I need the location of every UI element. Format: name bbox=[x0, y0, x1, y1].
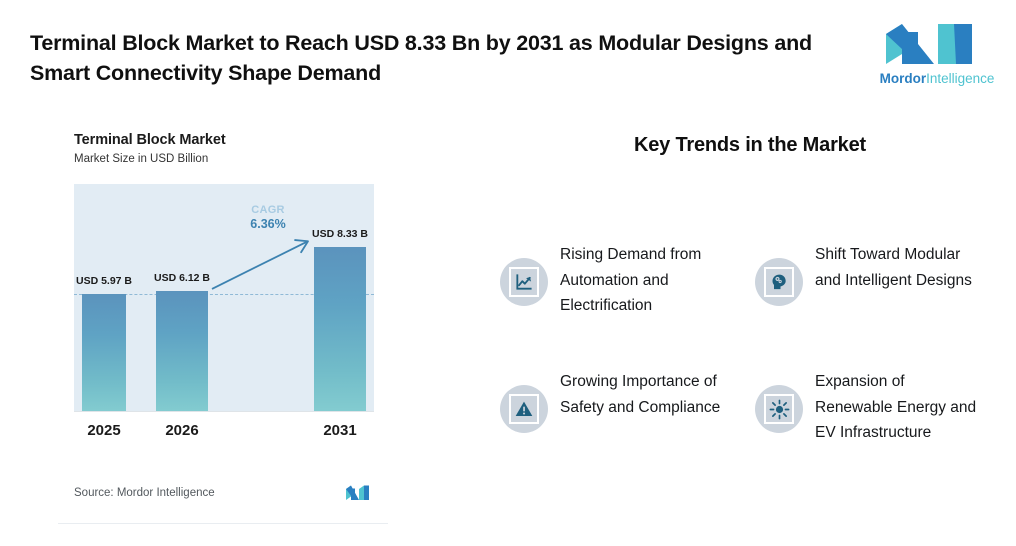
x-axis-tick-label: 2031 bbox=[300, 422, 380, 439]
chart-title: Terminal Block Market bbox=[74, 132, 226, 148]
chart-bar[interactable] bbox=[82, 294, 126, 412]
trend-icon-circle bbox=[500, 258, 548, 306]
x-axis-line bbox=[74, 411, 374, 413]
trend-icon-circle bbox=[755, 258, 803, 306]
trend-item-modular-designs[interactable]: Shift Toward Modular and Intelligent Des… bbox=[755, 240, 1010, 367]
head-gears-icon bbox=[764, 267, 794, 297]
trend-icon-circle bbox=[500, 385, 548, 433]
mordor-intelligence-logo-icon bbox=[876, 20, 998, 68]
trend-item-safety-compliance[interactable]: Growing Importance of Safety and Complia… bbox=[500, 367, 755, 494]
source-label: Source: Mordor Intelligence bbox=[74, 487, 215, 499]
sun-solar-icon bbox=[764, 394, 794, 424]
infographic-page: Terminal Block Market to Reach USD 8.33 … bbox=[0, 0, 1016, 546]
mordor-intelligence-mark-icon bbox=[344, 484, 372, 501]
brand-word-primary: Mordor bbox=[880, 71, 927, 86]
bar-value-label: USD 5.97 B bbox=[61, 275, 147, 287]
chart-subtitle: Market Size in USD Billion bbox=[74, 153, 208, 165]
trend-item-label: Rising Demand from Automation and Electr… bbox=[560, 240, 730, 319]
x-axis-tick-label: 2026 bbox=[142, 422, 222, 439]
trend-item-renewable-ev[interactable]: Expansion of Renewable Energy and EV Inf… bbox=[755, 367, 1010, 494]
key-trends-title: Key Trends in the Market bbox=[510, 134, 990, 157]
brand-logo: MordorIntelligence bbox=[876, 20, 998, 92]
trend-item-label: Growing Importance of Safety and Complia… bbox=[560, 367, 730, 420]
cagr-annotation: CAGR6.36% bbox=[236, 204, 300, 231]
chart-bar[interactable] bbox=[314, 247, 366, 412]
cagr-label: CAGR bbox=[236, 204, 300, 216]
plot-area: USD 5.97 B2025USD 6.12 B2026USD 8.33 B20… bbox=[74, 184, 374, 464]
brand-word-secondary: Intelligence bbox=[926, 71, 994, 86]
trend-icon-circle bbox=[755, 385, 803, 433]
trend-item-label: Shift Toward Modular and Intelligent Des… bbox=[815, 240, 985, 293]
header: Terminal Block Market to Reach USD 8.33 … bbox=[0, 0, 1016, 112]
chart-trend-up-icon bbox=[509, 267, 539, 297]
bar-chart-plot: USD 5.97 B2025USD 6.12 B2026USD 8.33 B20… bbox=[74, 184, 374, 464]
bar-value-label: USD 6.12 B bbox=[139, 272, 225, 284]
x-axis-tick-label: 2025 bbox=[64, 422, 144, 439]
brand-wordmark: MordorIntelligence bbox=[876, 71, 998, 86]
cagr-value: 6.36% bbox=[236, 217, 300, 231]
key-trends-grid: Rising Demand from Automation and Electr… bbox=[500, 240, 1010, 494]
bar-value-label: USD 8.33 B bbox=[297, 228, 383, 240]
trend-item-label: Expansion of Renewable Energy and EV Inf… bbox=[815, 367, 985, 446]
chart-bar[interactable] bbox=[156, 291, 208, 412]
key-trends-panel: Key Trends in the Market Rising Demand f… bbox=[490, 112, 1010, 532]
chart-card: Terminal Block Market Market Size in USD… bbox=[58, 112, 388, 524]
chart-source-row: Source: Mordor Intelligence bbox=[74, 484, 372, 501]
warning-triangle-icon bbox=[509, 394, 539, 424]
trend-item-automation[interactable]: Rising Demand from Automation and Electr… bbox=[500, 240, 755, 367]
page-title: Terminal Block Market to Reach USD 8.33 … bbox=[30, 28, 830, 88]
